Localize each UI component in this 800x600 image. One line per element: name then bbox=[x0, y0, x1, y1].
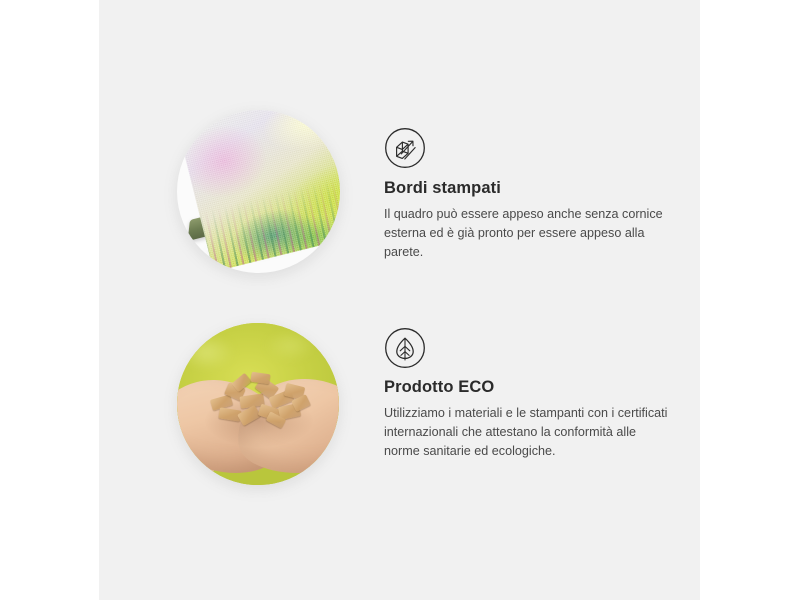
hands-wood-chips-photo-inner bbox=[177, 323, 339, 485]
eco-product-description: Utilizziamo i materiali e le stampanti c… bbox=[384, 404, 669, 461]
hands-wood-chips-photo bbox=[177, 323, 339, 485]
canvas-corner-photo-inner bbox=[177, 110, 340, 273]
product-feature-page: Bordi stampati Il quadro può essere appe… bbox=[0, 0, 800, 600]
wood-chips-pile bbox=[207, 371, 315, 427]
canvas-wrapped-edge-icon bbox=[384, 127, 426, 169]
printed-edges-description: Il quadro può essere appeso anche senza … bbox=[384, 205, 669, 262]
leaf-icon bbox=[384, 327, 426, 369]
printed-edges-title: Bordi stampati bbox=[384, 179, 669, 199]
feature-eco-product: Prodotto ECO Utilizziamo i materiali e l… bbox=[99, 300, 700, 600]
eco-product-text: Prodotto ECO Utilizziamo i materiali e l… bbox=[384, 378, 669, 461]
printed-edges-text: Bordi stampati Il quadro può essere appe… bbox=[384, 179, 669, 262]
feature-printed-edges: Bordi stampati Il quadro può essere appe… bbox=[99, 0, 700, 300]
feature-panel: Bordi stampati Il quadro può essere appe… bbox=[99, 0, 700, 600]
eco-product-title: Prodotto ECO bbox=[384, 378, 669, 398]
canvas-corner-photo bbox=[177, 110, 340, 273]
canvas-printed-face bbox=[177, 110, 340, 272]
